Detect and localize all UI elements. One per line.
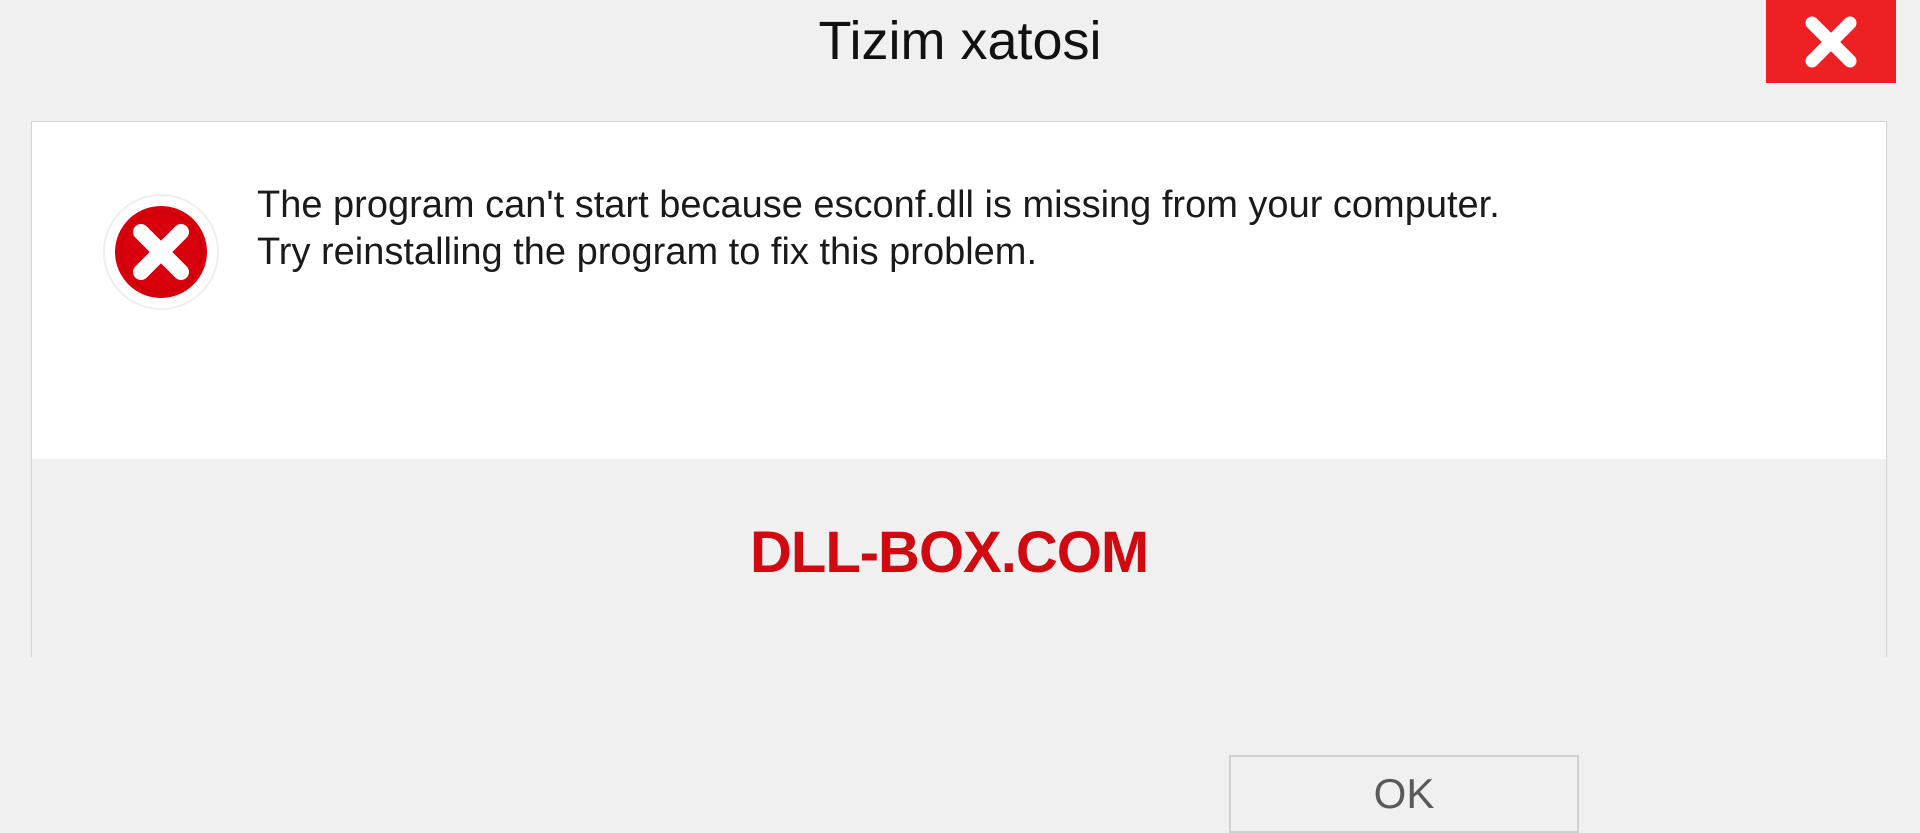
dialog-footer: DLL-BOX.COM OK — [32, 459, 1886, 657]
dialog-body: The program can't start because esconf.d… — [32, 122, 1886, 459]
error-message-line-1: The program can't start because esconf.d… — [257, 182, 1817, 228]
watermark-dll-box: DLL-BOX.COM — [750, 519, 1148, 586]
error-message-line-2: Try reinstalling the program to fix this… — [257, 229, 1817, 275]
page-title: Tizim xatosi — [0, 6, 1920, 76]
ok-button[interactable]: OK — [1229, 755, 1579, 833]
close-button[interactable] — [1766, 0, 1896, 83]
error-circle-x-icon — [103, 194, 219, 310]
error-message: The program can't start because esconf.d… — [257, 182, 1817, 275]
title-bar: Tizim xatosi — [0, 0, 1920, 90]
error-dialog: The program can't start because esconf.d… — [31, 121, 1887, 657]
